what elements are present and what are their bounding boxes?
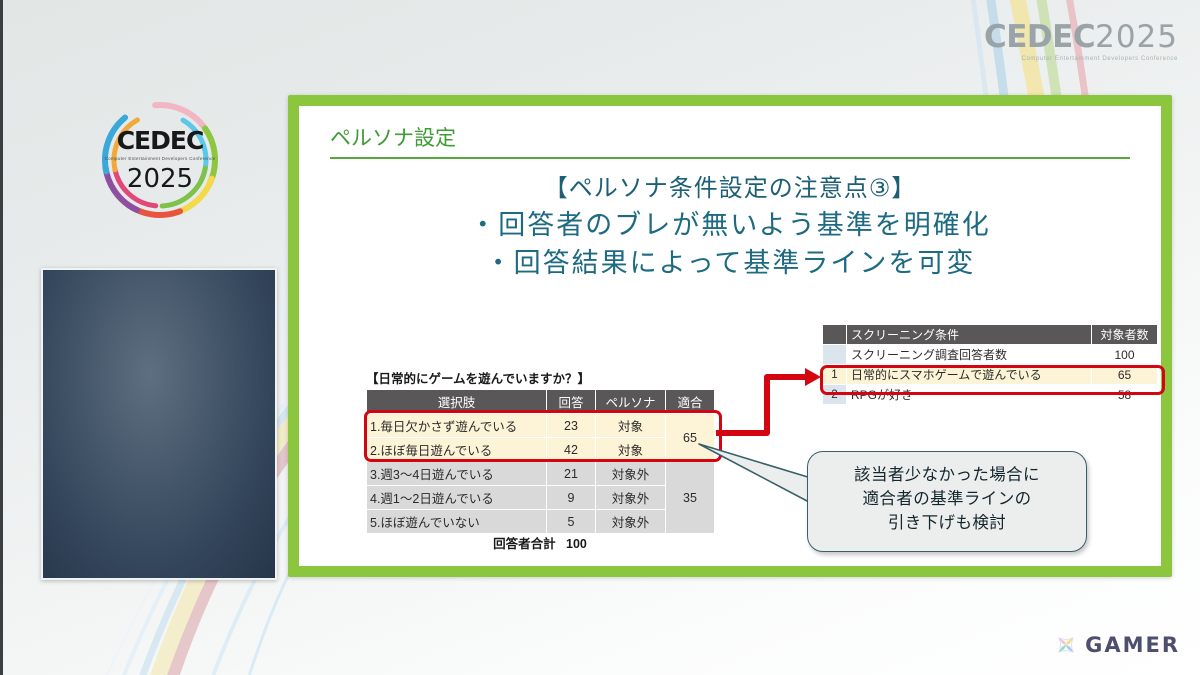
bullet-item-2: ・回答結果によって基準ラインを可変 xyxy=(299,244,1161,282)
total-value: 100 xyxy=(566,537,587,551)
cell-count: 65 xyxy=(1092,365,1158,385)
video-background xyxy=(43,270,275,578)
slide-title: ペルソナ設定 xyxy=(330,122,456,152)
col-header-count: 対象者数 xyxy=(1092,325,1158,345)
cell-option: 3.週3～4日遊んでいる xyxy=(367,462,547,486)
col-header-persona: ペルソナ xyxy=(596,390,666,414)
cell-condition: RPGが好き xyxy=(847,385,1092,405)
question-label: 【日常的にゲームを遊んでいますか？】 xyxy=(366,368,590,387)
screening-table: スクリーニング条件 対象者数 スクリーニング調査回答者数 100 1 日常的にス… xyxy=(822,324,1158,405)
cell-answer: 21 xyxy=(547,462,596,486)
cell-fit-nontarget: 35 xyxy=(666,462,715,534)
cedec-logo-topright: CEDEC2025 Computer Entertainment Develop… xyxy=(984,22,1178,62)
cell-answer: 23 xyxy=(547,414,596,438)
cell-option: 5.ほぼ遊んでいない xyxy=(367,510,547,534)
bullet-item-1: ・回答者のブレが無いよう基準を明確化 xyxy=(299,206,1161,244)
col-header-index xyxy=(823,325,847,345)
broadcast-frame: CEDEC2025 Computer Entertainment Develop… xyxy=(0,0,1200,675)
gamer-watermark: GAMER xyxy=(1055,633,1180,657)
cedec-logo-subtitle: Computer Entertainment Developers Confer… xyxy=(984,56,1178,62)
screening-header-row: スクリーニング条件 対象者数 xyxy=(823,325,1158,345)
badge-subtitle: Computer Entertainment Developers Confer… xyxy=(105,156,216,161)
screening-row: 1 日常的にスマホゲームで遊んでいる 65 xyxy=(823,365,1158,385)
cell-persona: 対象外 xyxy=(596,486,666,510)
cell-condition: スクリーニング調査回答者数 xyxy=(847,345,1092,365)
col-header-fit: 適合 xyxy=(666,390,715,414)
cell-index: 2 xyxy=(823,385,847,405)
callout-line-3: 引き下げも検討 xyxy=(808,512,1086,536)
cell-persona: 対象 xyxy=(596,414,666,438)
screening-row: 2 RPGが好き 58 xyxy=(823,385,1158,405)
gamer-logo-icon xyxy=(1055,634,1077,656)
frame-left-edge xyxy=(0,0,3,675)
cell-index: 1 xyxy=(823,365,847,385)
table-row: 3.週3～4日遊んでいる 21 対象外 35 xyxy=(367,462,715,486)
screening-row: スクリーニング調査回答者数 100 xyxy=(823,345,1158,365)
badge-year: 2025 xyxy=(127,164,193,194)
slide-content: ペルソナ設定 【ペルソナ条件設定の注意点③】 ・回答者のブレが無いよう基準を明確… xyxy=(299,106,1161,566)
table-row: 1.毎日欠かさず遊んでいる 23 対象 65 xyxy=(367,414,715,438)
speaker-video-feed: CEDEC xyxy=(41,268,277,580)
cedec-round-badge: CEDEC Computer Entertainment Developers … xyxy=(96,96,224,224)
cell-answer: 5 xyxy=(547,510,596,534)
table-row: 2.ほぼ毎日遊んでいる 42 対象 xyxy=(367,438,715,462)
table-row: 5.ほぼ遊んでいない 5 対象外 xyxy=(367,510,715,534)
cell-answer: 9 xyxy=(547,486,596,510)
cell-answer: 42 xyxy=(547,438,596,462)
cedec-logo-mark: CEDEC xyxy=(984,19,1095,55)
cell-count: 58 xyxy=(1092,385,1158,405)
gamer-wordmark: GAMER xyxy=(1085,633,1180,657)
callout-bubble: 該当者少なかった場合に 適合者の基準ラインの 引き下げも検討 xyxy=(807,451,1087,552)
response-table: 選択肢 回答 ペルソナ 適合 1.毎日欠かさず遊んでいる 23 対象 65 2.… xyxy=(366,389,715,534)
col-header-option: 選択肢 xyxy=(367,390,547,414)
callout-text: 該当者少なかった場合に 適合者の基準ラインの 引き下げも検討 xyxy=(808,464,1086,536)
cell-persona: 対象外 xyxy=(596,462,666,486)
table-header-row: 選択肢 回答 ペルソナ 適合 xyxy=(367,390,715,414)
respondent-total: 回答者合計 100 xyxy=(366,533,714,552)
headline-text: 【ペルソナ条件設定の注意点③】 xyxy=(299,168,1161,203)
cell-fit-target: 65 xyxy=(666,414,715,462)
slide-bullets: ・回答者のブレが無いよう基準を明確化 ・回答結果によって基準ラインを可変 xyxy=(299,206,1161,283)
cell-option: 4.週1～2日遊んでいる xyxy=(367,486,547,510)
cell-persona: 対象外 xyxy=(596,510,666,534)
cell-index xyxy=(823,345,847,365)
col-header-condition: スクリーニング条件 xyxy=(847,325,1092,345)
cell-count: 100 xyxy=(1092,345,1158,365)
cell-option: 2.ほぼ毎日遊んでいる xyxy=(367,438,547,462)
cedec-logo-year: 2025 xyxy=(1095,19,1178,55)
table-row: 4.週1～2日遊んでいる 9 対象外 xyxy=(367,486,715,510)
col-header-answer: 回答 xyxy=(547,390,596,414)
callout-line-1: 該当者少なかった場合に xyxy=(808,464,1086,488)
title-underline xyxy=(330,157,1130,159)
badge-title: CEDEC xyxy=(117,126,204,155)
presentation-slide: ペルソナ設定 【ペルソナ条件設定の注意点③】 ・回答者のブレが無いよう基準を明確… xyxy=(288,95,1172,577)
cell-persona: 対象 xyxy=(596,438,666,462)
cell-option: 1.毎日欠かさず遊んでいる xyxy=(367,414,547,438)
total-label: 回答者合計 xyxy=(493,537,556,551)
slide-headline: 【ペルソナ条件設定の注意点③】 xyxy=(299,168,1161,203)
cell-condition: 日常的にスマホゲームで遊んでいる xyxy=(847,365,1092,385)
callout-line-2: 適合者の基準ラインの xyxy=(808,488,1086,512)
